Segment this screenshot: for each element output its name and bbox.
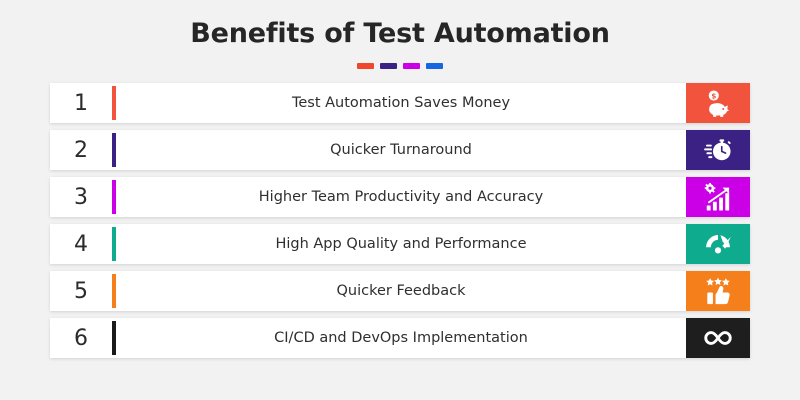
infinity-devops-icon — [686, 318, 750, 358]
page-title: Benefits of Test Automation — [0, 18, 800, 50]
benefit-label: CI/CD and DevOps Implementation — [116, 318, 686, 358]
benefit-label: High App Quality and Performance — [116, 224, 686, 264]
benefit-label: Quicker Turnaround — [116, 130, 686, 170]
benefit-label: Quicker Feedback — [116, 271, 686, 311]
benefits-list: 1Test Automation Saves Money $ 2Quicker … — [0, 83, 800, 358]
dash-red — [357, 63, 374, 69]
growth-chart-gear-icon — [686, 177, 750, 217]
benefit-label: Higher Team Productivity and Accuracy — [116, 177, 686, 217]
benefit-row[interactable]: 6CI/CD and DevOps Implementation — [50, 318, 750, 358]
benefit-number: 5 — [50, 271, 112, 311]
benefit-row[interactable]: 3Higher Team Productivity and Accuracy — [50, 177, 750, 217]
speedometer-icon — [686, 224, 750, 264]
svg-text:$: $ — [711, 92, 716, 101]
header: Benefits of Test Automation — [0, 0, 800, 69]
benefit-row[interactable]: 4High App Quality and Performance — [50, 224, 750, 264]
infographic-root: Benefits of Test Automation 1Test Automa… — [0, 0, 800, 400]
benefit-label: Test Automation Saves Money — [116, 83, 686, 123]
dash-blue — [426, 63, 443, 69]
benefit-row[interactable]: 1Test Automation Saves Money $ — [50, 83, 750, 123]
benefit-number: 6 — [50, 318, 112, 358]
benefit-number: 2 — [50, 130, 112, 170]
benefit-number: 4 — [50, 224, 112, 264]
benefit-row[interactable]: 2Quicker Turnaround — [50, 130, 750, 170]
fast-clock-icon — [686, 130, 750, 170]
benefit-row[interactable]: 5Quicker Feedback — [50, 271, 750, 311]
benefit-number: 1 — [50, 83, 112, 123]
piggy-bank-icon: $ — [686, 83, 750, 123]
dash-indigo — [380, 63, 397, 69]
dash-magenta — [403, 63, 420, 69]
title-underline-dashes — [0, 63, 800, 69]
thumbs-up-stars-icon — [686, 271, 750, 311]
benefit-number: 3 — [50, 177, 112, 217]
